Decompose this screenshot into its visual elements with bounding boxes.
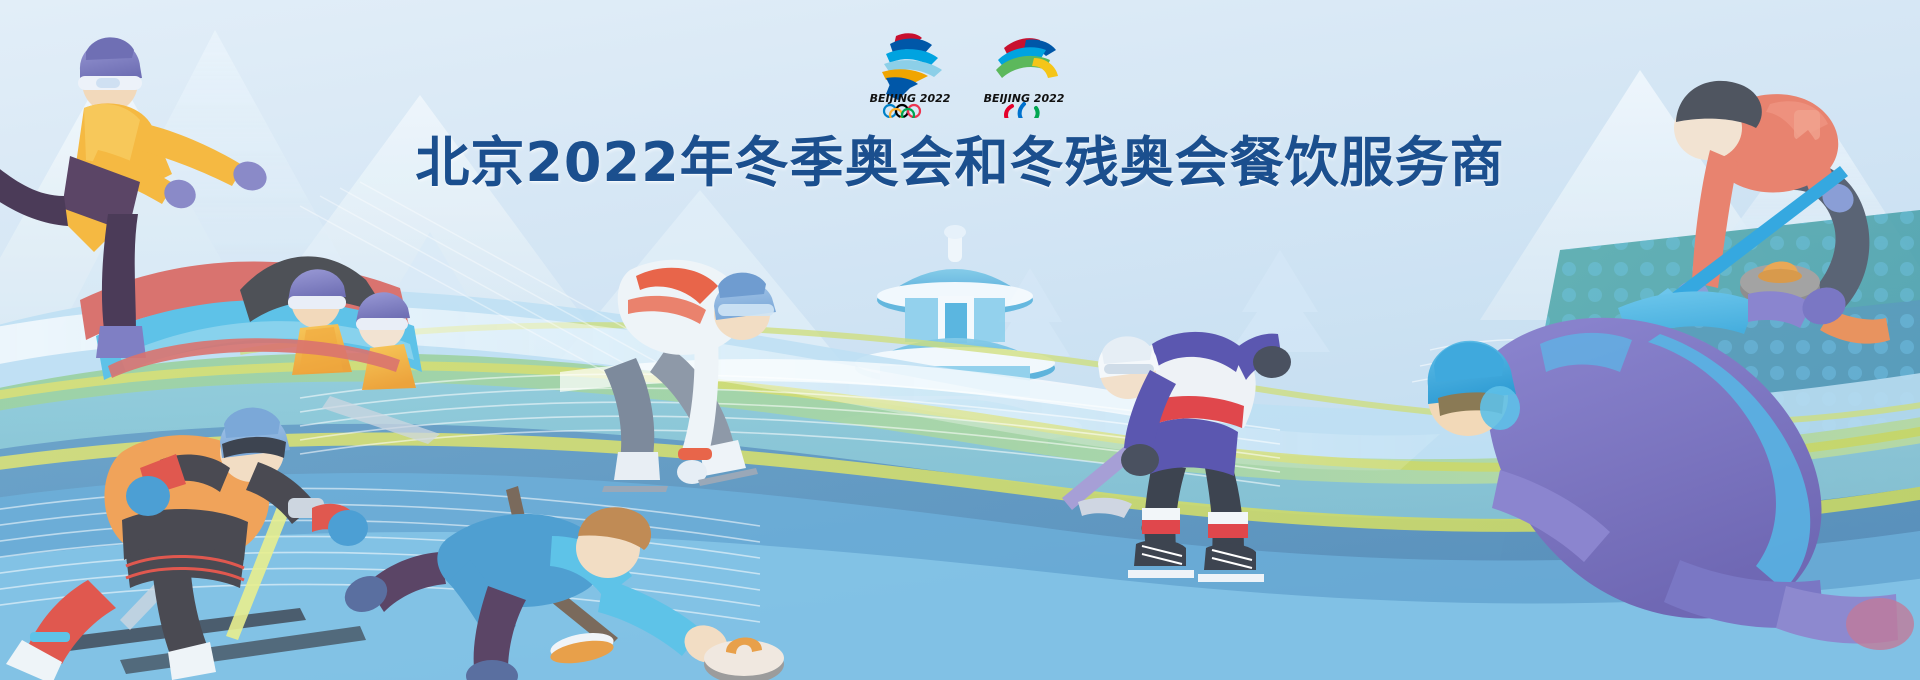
athlete-speed-skater-center [602,260,776,492]
olympic-logo-svg: BEIJING 2022 [860,26,960,118]
paralympic-logo: BEIJING 2022 [974,26,1074,118]
olympic-wordmark: BEIJING 2022 [870,92,951,105]
olympic-emblem-mark [882,33,942,100]
athlete-cross-country-skier [6,408,368,680]
olympic-logos-group: BEIJING 2022 [860,26,1080,118]
athlete-curler-bottom-center [339,486,784,680]
paralympic-logo-svg: BEIJING 2022 [974,26,1074,118]
paralympic-agitos [1006,104,1038,118]
athlete-bobsleigh-team [0,37,440,444]
paralympic-emblem-mark [996,38,1058,78]
olympic-rings [884,105,920,118]
olympic-logo: BEIJING 2022 [860,26,960,118]
athlete-ice-hockey-player [1062,332,1291,582]
beijing-2022-banner: BEIJING 2022 [0,0,1920,680]
